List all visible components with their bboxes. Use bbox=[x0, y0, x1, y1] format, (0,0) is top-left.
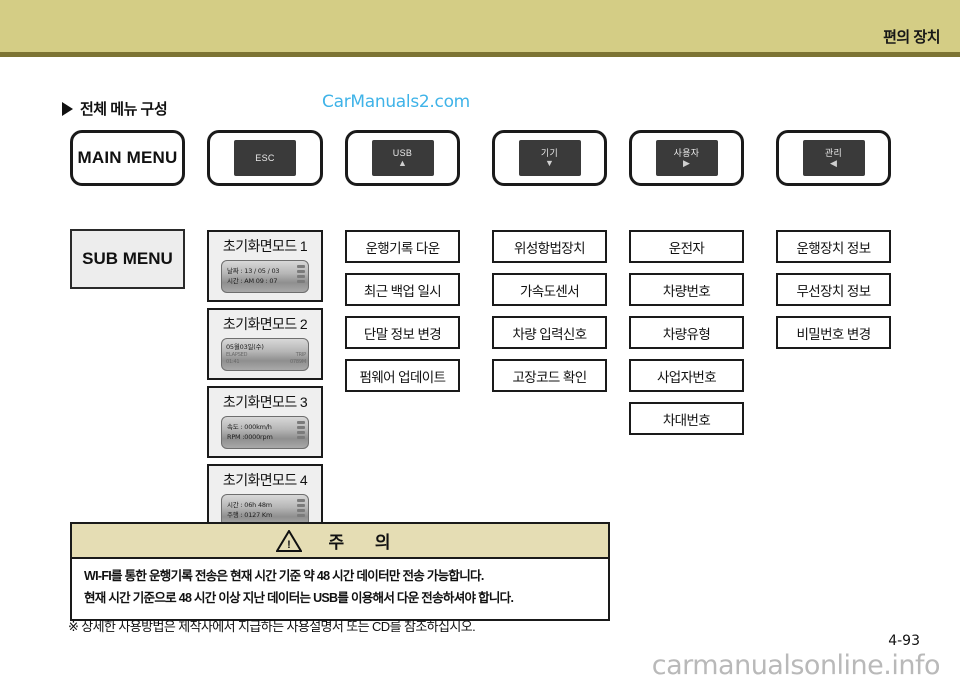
diagram-column-usb: USB ▲ 운행기록 다운 최근 백업 일시 단말 정보 변경 펌웨어 업데이트 bbox=[345, 130, 460, 186]
admin-key-label: 관리 bbox=[825, 149, 842, 158]
lcd-line: 날짜 : 13 / 05 / 03 bbox=[227, 267, 308, 276]
user-key-label: 사용자 bbox=[674, 149, 700, 158]
screen-mode-lcd-preview: 날짜 : 13 / 05 / 03 시간 : AM 09 : 07 bbox=[221, 260, 309, 293]
menu-item[interactable]: 운행장치 정보 bbox=[776, 230, 891, 263]
lcd-line: 주행 : 0127 Km bbox=[227, 511, 308, 520]
menu-item[interactable]: 가속도센서 bbox=[492, 273, 607, 306]
lcd-line: 시간 : AM 09 : 07 bbox=[227, 277, 308, 286]
menu-item[interactable]: 고장코드 확인 bbox=[492, 359, 607, 392]
menu-key-usb[interactable]: USB ▲ bbox=[345, 130, 460, 186]
page-number: 4-93 bbox=[888, 633, 920, 649]
lcd-line: 01:41 bbox=[226, 359, 239, 366]
lcd-line: 0789M bbox=[290, 359, 306, 366]
screen-mode-lcd-preview: 속도 : 000km/h RPM :0000rpm bbox=[221, 416, 309, 449]
menu-item[interactable]: 사업자번호 bbox=[629, 359, 744, 392]
menu-item[interactable]: 단말 정보 변경 bbox=[345, 316, 460, 349]
screen-mode-card[interactable]: 초기화면모드 1 날짜 : 13 / 05 / 03 시간 : AM 09 : … bbox=[207, 230, 323, 302]
lcd-line: TRIP bbox=[296, 352, 306, 359]
screen-mode-title: 초기화면모드 2 bbox=[223, 314, 307, 334]
note-text: ※ 상세한 사용방법은 제작사에서 지급하는 사용설명서 또는 CD를 참조하십… bbox=[68, 616, 475, 635]
caution-heading: 주 의 bbox=[318, 528, 403, 553]
lcd-line: RPM :0000rpm bbox=[227, 433, 308, 442]
lcd-line: 속도 : 000km/h bbox=[227, 423, 308, 432]
diagram-column-device: 기기 ▼ 위성항법장치 가속도센서 차량 입력신호 고장코드 확인 bbox=[492, 130, 607, 186]
device-key-label: 기기 bbox=[541, 149, 558, 158]
user-key-face: 사용자 ▶ bbox=[656, 140, 718, 176]
diagram-row-labels: MAIN MENU bbox=[70, 130, 185, 186]
user-sub-items: 운전자 차량번호 차량유형 사업자번호 차대번호 bbox=[629, 230, 744, 445]
screen-mode-title: 초기화면모드 3 bbox=[223, 392, 307, 412]
diagram-column-user: 사용자 ▶ 운전자 차량번호 차량유형 사업자번호 차대번호 bbox=[629, 130, 744, 186]
esc-key-face: ESC bbox=[234, 140, 296, 176]
screen-mode-title: 초기화면모드 1 bbox=[223, 236, 307, 256]
esc-sub-items: 초기화면모드 1 날짜 : 13 / 05 / 03 시간 : AM 09 : … bbox=[207, 230, 323, 542]
lcd-line: 05월03일(수) bbox=[226, 343, 308, 352]
caution-body: WI-FI를 통한 운행기록 전송은 현재 시간 기준 약 48 시간 데이터만… bbox=[72, 559, 608, 619]
menu-item[interactable]: 차량유형 bbox=[629, 316, 744, 349]
menu-item[interactable]: 최근 백업 일시 bbox=[345, 273, 460, 306]
menu-item[interactable]: 운행기록 다운 bbox=[345, 230, 460, 263]
admin-key-face: 관리 ◀ bbox=[803, 140, 865, 176]
lcd-side-marks-icon bbox=[297, 421, 305, 439]
diagram-column-esc: ESC 초기화면모드 1 날짜 : 13 / 05 / 03 시간 : AM 0… bbox=[207, 130, 323, 186]
svg-text:!: ! bbox=[288, 539, 292, 551]
lcd-line: 시간 : 06h 48m bbox=[227, 501, 308, 510]
arrow-right-icon: ▶ bbox=[683, 159, 690, 168]
sub-menu-label-box: SUB MENU bbox=[70, 229, 185, 289]
menu-item[interactable]: 차량번호 bbox=[629, 273, 744, 306]
main-menu-label-box: MAIN MENU bbox=[70, 130, 185, 186]
diagram-column-admin: 관리 ◀ 운행장치 정보 무선장치 정보 비밀번호 변경 bbox=[776, 130, 891, 186]
menu-item[interactable]: 펌웨어 업데이트 bbox=[345, 359, 460, 392]
caution-box: ! 주 의 WI-FI를 통한 운행기록 전송은 현재 시간 기준 약 48 시… bbox=[70, 522, 610, 621]
menu-item[interactable]: 운전자 bbox=[629, 230, 744, 263]
screen-mode-title: 초기화면모드 4 bbox=[223, 470, 307, 490]
screen-mode-card[interactable]: 초기화면모드 3 속도 : 000km/h RPM :0000rpm bbox=[207, 386, 323, 458]
arrow-up-icon: ▲ bbox=[398, 159, 407, 168]
caution-header: ! 주 의 bbox=[72, 524, 608, 559]
usb-key-label: USB bbox=[393, 149, 412, 158]
caution-line: WI-FI를 통한 운행기록 전송은 현재 시간 기준 약 48 시간 데이터만… bbox=[84, 566, 596, 588]
watermark-bottom: carmanualsonline.info bbox=[652, 650, 940, 681]
arrow-left-icon: ◀ bbox=[830, 159, 837, 168]
lcd-side-marks-icon bbox=[297, 499, 305, 517]
usb-key-face: USB ▲ bbox=[372, 140, 434, 176]
screen-mode-card[interactable]: 초기화면모드 2 05월03일(수) ELAPSEDTRIP 01:410789… bbox=[207, 308, 323, 380]
menu-key-admin[interactable]: 관리 ◀ bbox=[776, 130, 891, 186]
usb-sub-items: 운행기록 다운 최근 백업 일시 단말 정보 변경 펌웨어 업데이트 bbox=[345, 230, 460, 402]
menu-key-device[interactable]: 기기 ▼ bbox=[492, 130, 607, 186]
menu-key-user[interactable]: 사용자 ▶ bbox=[629, 130, 744, 186]
caution-line: 현재 시간 기준으로 48 시간 이상 지난 데이터는 USB를 이용해서 다운… bbox=[84, 588, 596, 610]
admin-sub-items: 운행장치 정보 무선장치 정보 비밀번호 변경 bbox=[776, 230, 891, 359]
warning-triangle-icon: ! bbox=[276, 530, 302, 552]
device-key-face: 기기 ▼ bbox=[519, 140, 581, 176]
menu-item[interactable]: 차대번호 bbox=[629, 402, 744, 435]
device-sub-items: 위성항법장치 가속도센서 차량 입력신호 고장코드 확인 bbox=[492, 230, 607, 402]
screen-mode-lcd-preview: 05월03일(수) ELAPSEDTRIP 01:410789M bbox=[221, 338, 309, 371]
menu-item[interactable]: 무선장치 정보 bbox=[776, 273, 891, 306]
menu-key-esc[interactable]: ESC bbox=[207, 130, 323, 186]
arrow-down-icon: ▼ bbox=[545, 159, 554, 168]
lcd-side-marks-icon bbox=[297, 265, 305, 283]
lcd-line: ELAPSED bbox=[226, 352, 247, 359]
menu-item[interactable]: 위성항법장치 bbox=[492, 230, 607, 263]
esc-key-label: ESC bbox=[255, 154, 274, 163]
menu-item[interactable]: 비밀번호 변경 bbox=[776, 316, 891, 349]
menu-item[interactable]: 차량 입력신호 bbox=[492, 316, 607, 349]
